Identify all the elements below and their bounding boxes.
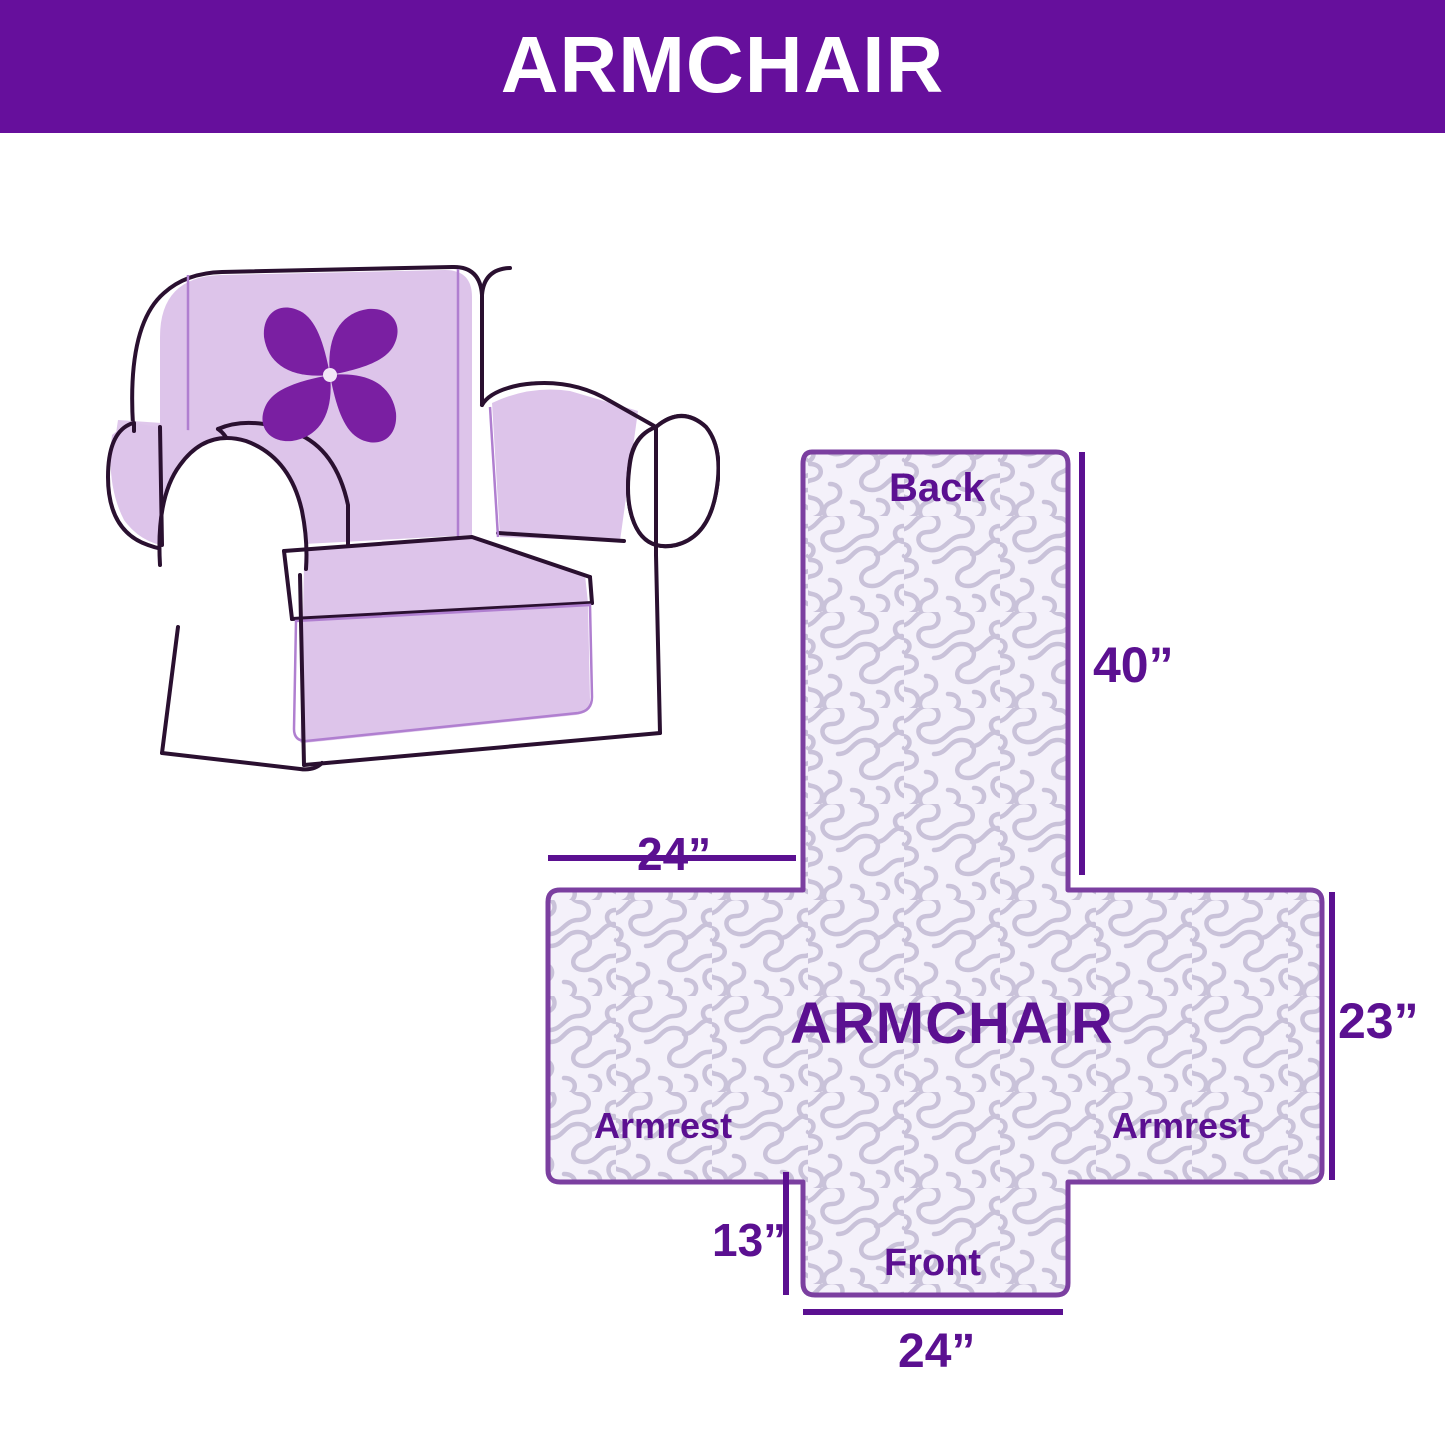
- dimension-label-front-height: 13”: [712, 1217, 786, 1263]
- page-title: ARMCHAIR: [501, 25, 945, 105]
- panel-label-armrest-right: Armrest: [1112, 1108, 1250, 1144]
- armchair-product-diagram: ARMCHAIR .ol{fill:none;stroke:#2a1030;st…: [0, 0, 1445, 1445]
- panel-label-armchair: ARMCHAIR: [790, 995, 1114, 1053]
- dimension-label-back-height: 40”: [1093, 640, 1174, 690]
- dimension-label-front-width: 24”: [898, 1328, 975, 1376]
- slipcover-layout-diagram: .cross-fill{fill:url(#stipple);stroke:#7…: [520, 420, 1445, 1380]
- panel-label-front: Front: [884, 1244, 981, 1282]
- dimension-label-armrest-left-width: 24”: [637, 831, 711, 877]
- dimension-label-seat-height: 23”: [1338, 996, 1419, 1046]
- panel-label-back: Back: [889, 468, 985, 508]
- header-banner: ARMCHAIR: [0, 0, 1445, 133]
- panel-label-armrest-left: Armrest: [594, 1108, 732, 1144]
